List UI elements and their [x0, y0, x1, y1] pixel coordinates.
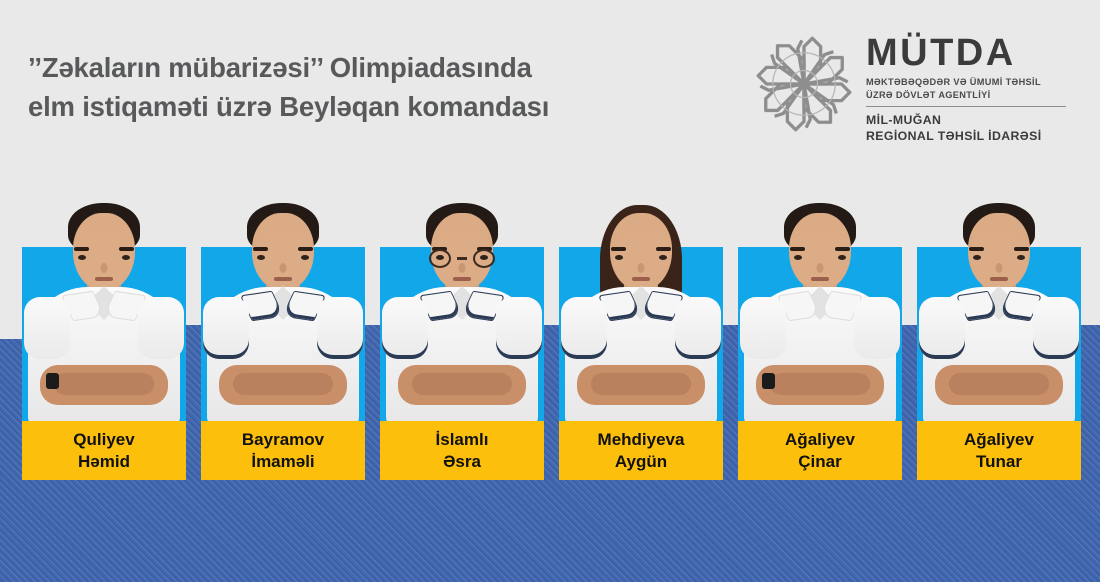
student-surname: Ağaliyev — [785, 429, 855, 451]
sleeve-right — [675, 297, 721, 359]
sleeve-left — [24, 297, 70, 359]
eye-right — [1017, 255, 1025, 260]
sleeve-left — [740, 297, 786, 359]
eyebrow-right — [835, 247, 850, 251]
eyebrow-right — [1014, 247, 1029, 251]
eyebrow-left — [611, 247, 626, 251]
wristwatch-icon — [46, 373, 59, 389]
eyebrow-left — [969, 247, 984, 251]
student-surname: Mehdiyeva — [598, 429, 685, 451]
eye-left — [973, 255, 981, 260]
nose — [101, 263, 108, 273]
student-card[interactable]: Quliyev Həmid — [22, 247, 186, 480]
eyebrow-right — [298, 247, 313, 251]
student-given-name: Həmid — [78, 451, 130, 473]
eye-left — [794, 255, 802, 260]
folded-arms — [935, 365, 1063, 405]
eye-right — [659, 255, 667, 260]
student-portrait — [917, 177, 1081, 421]
sleeve-left — [919, 297, 965, 359]
eye-left — [257, 255, 265, 260]
sleeve-left — [561, 297, 607, 359]
glasses-lens-right — [473, 249, 495, 268]
folded-arms — [398, 365, 526, 405]
student-card[interactable]: Ağaliyev Tunar — [917, 247, 1081, 480]
student-card[interactable]: Mehdiyeva Aygün — [559, 247, 723, 480]
student-nameplate[interactable]: Mehdiyeva Aygün — [559, 421, 723, 480]
student-surname: Quliyev — [73, 429, 134, 451]
student-nameplate[interactable]: Ağaliyev Tunar — [917, 421, 1081, 480]
student-given-name: Tunar — [976, 451, 1022, 473]
student-portrait — [559, 177, 723, 421]
student-nameplate[interactable]: Quliyev Həmid — [22, 421, 186, 480]
eyebrow-right — [119, 247, 134, 251]
student-nameplate[interactable]: Ağaliyev Çinar — [738, 421, 902, 480]
eyebrow-left — [253, 247, 268, 251]
folded-arms — [756, 365, 884, 405]
mouth — [990, 277, 1008, 281]
folded-arms — [219, 365, 347, 405]
mouth — [95, 277, 113, 281]
eye-left — [78, 255, 86, 260]
glasses-lens-left — [429, 249, 451, 268]
nose — [280, 263, 287, 273]
student-surname: İslamlı — [436, 429, 489, 451]
student-surname: Bayramov — [242, 429, 324, 451]
nose — [638, 263, 645, 273]
mouth — [811, 277, 829, 281]
glasses-bridge — [457, 257, 467, 260]
eye-right — [838, 255, 846, 260]
folded-arms — [40, 365, 168, 405]
sleeve-right — [138, 297, 184, 359]
student-row: Quliyev Həmid Bayramov — [0, 0, 1100, 582]
mouth — [453, 277, 471, 281]
student-portrait — [738, 177, 902, 421]
student-card[interactable]: Ağaliyev Çinar — [738, 247, 902, 480]
mouth — [274, 277, 292, 281]
sleeve-right — [1033, 297, 1079, 359]
student-nameplate[interactable]: Bayramov İmaməli — [201, 421, 365, 480]
wristwatch-icon — [762, 373, 775, 389]
eyebrow-left — [74, 247, 89, 251]
student-card[interactable]: İslamlı Əsra — [380, 247, 544, 480]
nose — [996, 263, 1003, 273]
student-given-name: Əsra — [443, 451, 481, 473]
nose — [817, 263, 824, 273]
mouth — [632, 277, 650, 281]
sleeve-right — [496, 297, 542, 359]
sleeve-right — [317, 297, 363, 359]
eyebrow-right — [656, 247, 671, 251]
sleeve-left — [382, 297, 428, 359]
sleeve-right — [854, 297, 900, 359]
eye-right — [301, 255, 309, 260]
student-portrait — [22, 177, 186, 421]
glasses-icon — [380, 249, 544, 269]
poster-canvas: ’’Zəkaların mübarizəsi’’ Olimpiadasında … — [0, 0, 1100, 582]
student-given-name: Çinar — [798, 451, 841, 473]
student-given-name: Aygün — [615, 451, 667, 473]
student-portrait — [380, 177, 544, 421]
folded-arms — [577, 365, 705, 405]
sleeve-left — [203, 297, 249, 359]
student-given-name: İmaməli — [251, 451, 314, 473]
student-surname: Ağaliyev — [964, 429, 1034, 451]
student-card[interactable]: Bayramov İmaməli — [201, 247, 365, 480]
eye-left — [615, 255, 623, 260]
student-nameplate[interactable]: İslamlı Əsra — [380, 421, 544, 480]
eye-right — [122, 255, 130, 260]
eyebrow-left — [790, 247, 805, 251]
student-portrait — [201, 177, 365, 421]
